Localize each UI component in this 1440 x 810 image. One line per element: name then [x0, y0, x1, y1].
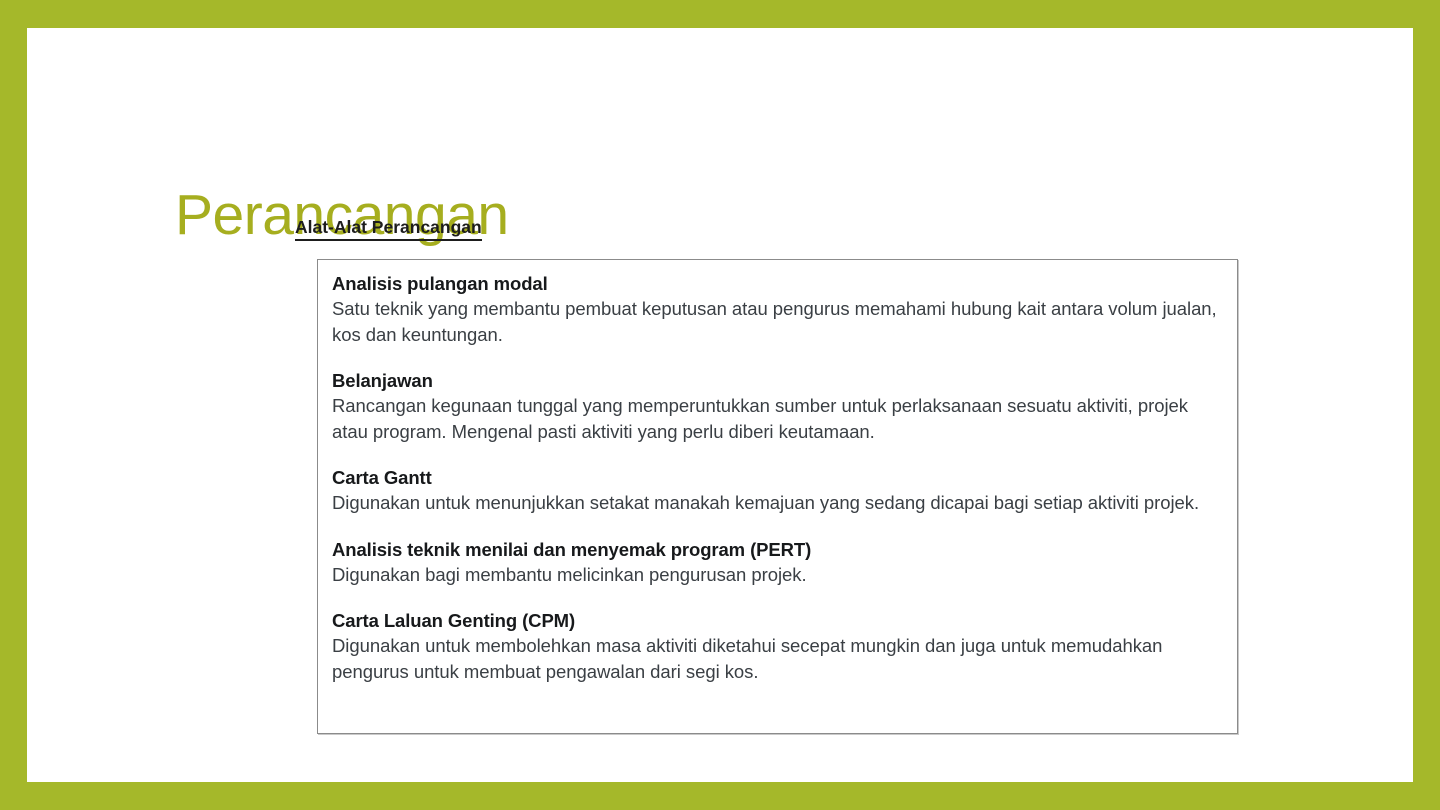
tool-description: Rancangan kegunaan tunggal yang memperun…: [332, 393, 1222, 444]
list-item: Analisis teknik menilai dan menyemak pro…: [332, 537, 1225, 588]
tool-term: Analisis teknik menilai dan menyemak pro…: [332, 537, 1225, 562]
tool-term: Carta Gantt: [332, 465, 1225, 490]
slide-frame: Perancangan Alat-Alat Perancangan Analis…: [0, 0, 1440, 810]
list-item: Analisis pulangan modal Satu teknik yang…: [332, 271, 1225, 347]
tool-term: Belanjawan: [332, 368, 1225, 393]
tool-description: Digunakan untuk menunjukkan setakat mana…: [332, 490, 1222, 516]
section-subtitle: Alat-Alat Perancangan: [295, 217, 482, 241]
list-item: Carta Laluan Genting (CPM) Digunakan unt…: [332, 608, 1225, 684]
tool-term: Carta Laluan Genting (CPM): [332, 608, 1225, 633]
list-item: Carta Gantt Digunakan untuk menunjukkan …: [332, 465, 1225, 516]
list-item: Belanjawan Rancangan kegunaan tunggal ya…: [332, 368, 1225, 444]
tool-description: Digunakan bagi membantu melicinkan pengu…: [332, 562, 1222, 588]
slide-canvas: Perancangan Alat-Alat Perancangan Analis…: [27, 28, 1413, 782]
tool-description: Satu teknik yang membantu pembuat keputu…: [332, 296, 1222, 347]
tool-term: Analisis pulangan modal: [332, 271, 1225, 296]
planning-tools-box: Analisis pulangan modal Satu teknik yang…: [317, 259, 1238, 734]
tool-description: Digunakan untuk membolehkan masa aktivit…: [332, 633, 1222, 684]
planning-tools-list: Analisis pulangan modal Satu teknik yang…: [332, 271, 1225, 684]
